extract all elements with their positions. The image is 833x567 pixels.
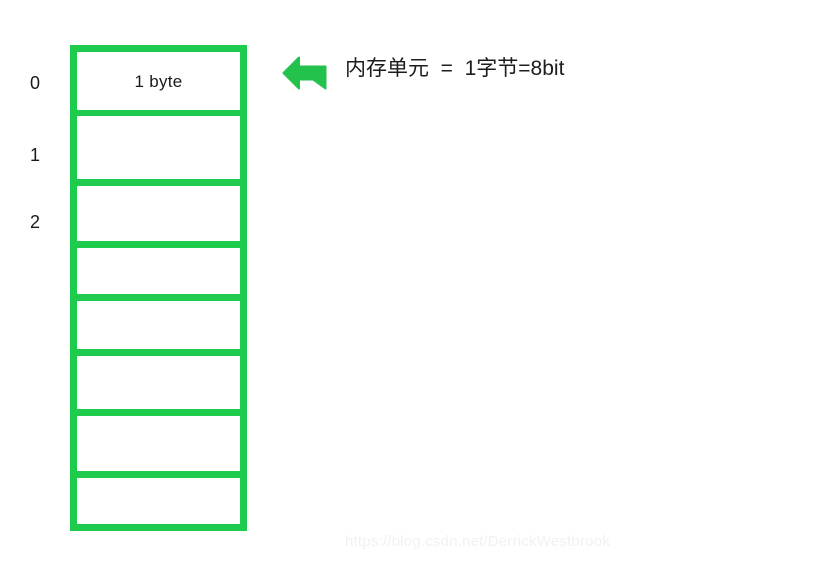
- memory-cell-0-label: 1 byte: [134, 73, 182, 90]
- annotation-caption: 内存单元 = 1字节=8bit: [345, 55, 564, 82]
- memory-cell-2: [77, 186, 240, 241]
- address-label-1: 1: [30, 146, 54, 164]
- memory-cell-5: [77, 356, 240, 409]
- memory-cell-1: [77, 116, 240, 179]
- memory-cell-4: [77, 301, 240, 349]
- arrow-left-icon: [282, 54, 327, 92]
- watermark: https://blog.csdn.net/DerrickWestbrook: [345, 533, 610, 550]
- diagram-canvas: 0 1 2 1 byte 内存单元 =: [0, 0, 833, 567]
- memory-cell-6: [77, 416, 240, 471]
- memory-cell-3: [77, 248, 240, 294]
- address-label-0: 0: [30, 74, 54, 92]
- memory-column: 1 byte: [70, 45, 247, 531]
- memory-cell-7: [77, 478, 240, 524]
- address-label-2: 2: [30, 213, 54, 231]
- memory-cell-0: 1 byte: [77, 52, 240, 110]
